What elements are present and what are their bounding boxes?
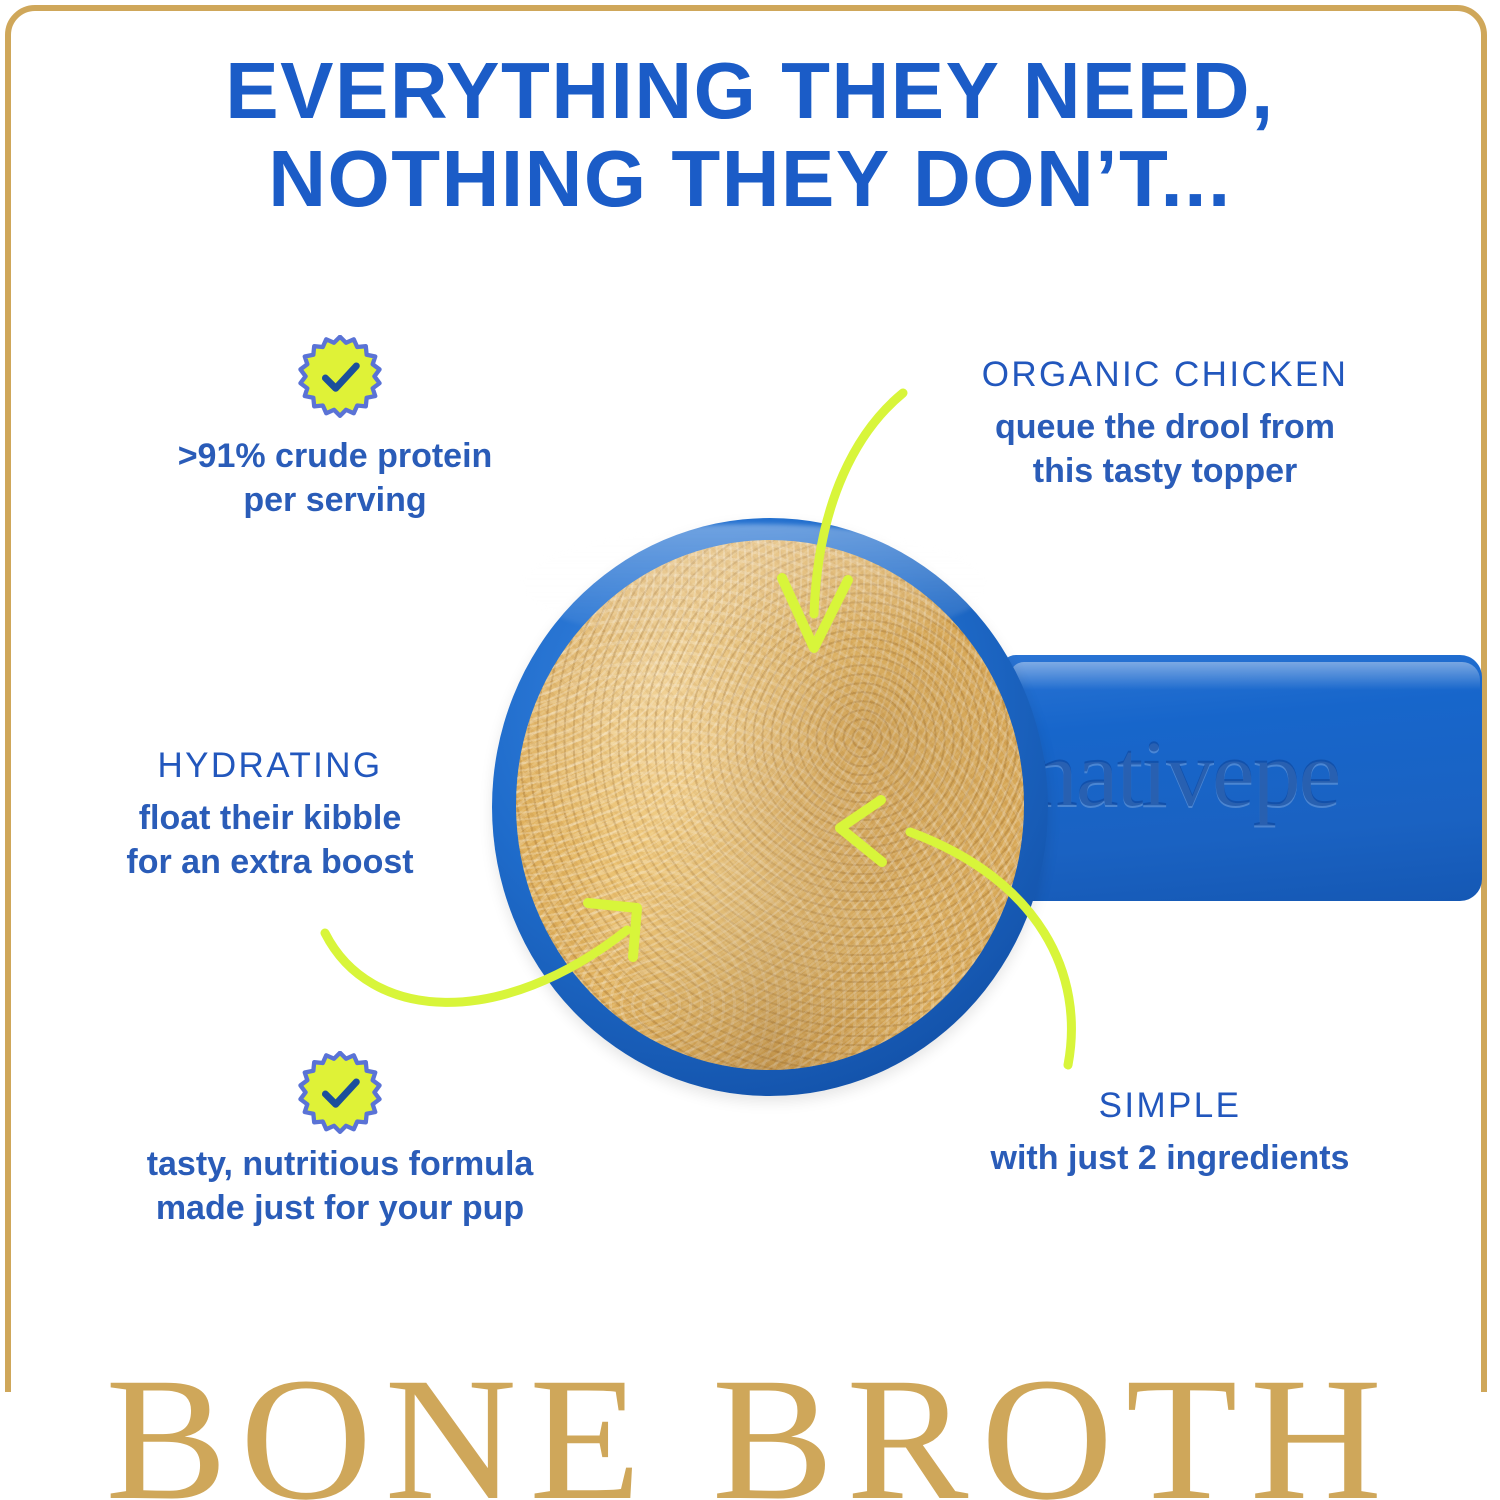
arrow-organic-chicken <box>782 393 903 648</box>
product-infographic: EVERYTHING THEY NEED, NOTHING THEY DON’T… <box>0 0 1500 1500</box>
callout-tasty-line-2: made just for your pup <box>156 1189 524 1227</box>
arrow-simple <box>840 800 1071 1065</box>
callout-tasty-body: tasty, nutritious formula made just for … <box>95 1142 585 1230</box>
callout-organic-chicken-line-1: queue the drool from <box>995 408 1335 446</box>
callout-simple: SIMPLE with just 2 ingredients <box>950 1086 1390 1180</box>
callout-organic-chicken: ORGANIC CHICKEN queue the drool from thi… <box>930 355 1400 494</box>
callout-hydrating-line-1: float their kibble <box>139 799 402 837</box>
callout-protein: >91% crude protein per serving <box>120 434 550 522</box>
callout-protein-line-2: per serving <box>243 481 426 519</box>
check-badge-protein <box>297 335 383 421</box>
callout-simple-title: SIMPLE <box>950 1086 1390 1126</box>
check-badge-tasty <box>297 1051 383 1137</box>
starburst-icon <box>300 1053 379 1132</box>
callout-organic-chicken-line-2: this tasty topper <box>1033 452 1297 490</box>
callout-hydrating-body: float their kibble for an extra boost <box>60 796 480 884</box>
product-wordmark: BONE BROTH <box>0 1352 1500 1500</box>
callout-hydrating-title: HYDRATING <box>60 746 480 786</box>
callout-hydrating-line-2: for an extra boost <box>126 843 413 881</box>
callout-protein-line-1: >91% crude protein <box>178 437 493 475</box>
callout-tasty: tasty, nutritious formula made just for … <box>95 1142 585 1230</box>
callout-tasty-line-1: tasty, nutritious formula <box>147 1145 534 1183</box>
callout-simple-line-1: with just 2 ingredients <box>991 1139 1350 1177</box>
callout-simple-body: with just 2 ingredients <box>950 1136 1390 1180</box>
arrow-hydrating <box>325 903 637 1002</box>
callout-hydrating: HYDRATING float their kibble for an extr… <box>60 746 480 885</box>
starburst-icon <box>300 337 379 416</box>
callout-protein-body: >91% crude protein per serving <box>120 434 550 522</box>
callout-organic-chicken-body: queue the drool from this tasty topper <box>930 405 1400 493</box>
callout-organic-chicken-title: ORGANIC CHICKEN <box>930 355 1400 395</box>
